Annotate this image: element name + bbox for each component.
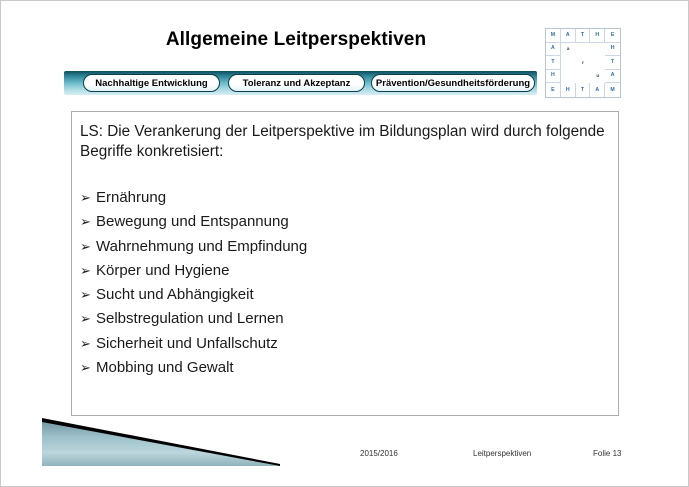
list-item: ➢ Wahrnehmung und Empfindung — [80, 239, 610, 263]
list-item: ➢ Sucht und Abhängigkeit — [80, 287, 610, 311]
logo-cell: H — [561, 83, 576, 97]
logo-cell: M — [605, 83, 620, 97]
list-item: ➢ Selbstregulation und Lernen — [80, 311, 610, 335]
list-item-label: Wahrnehmung und Empfindung — [96, 239, 307, 254]
arrow-bullet-icon: ➢ — [80, 338, 96, 351]
logo-cell: A — [546, 43, 561, 57]
list-item: ➢ Bewegung und Entspannung — [80, 214, 610, 238]
bullet-list: ➢ Ernährung ➢ Bewegung und Entspannung ➢… — [80, 190, 610, 384]
logo-cell-inner — [590, 56, 605, 70]
list-item: ➢ Ernährung — [80, 190, 610, 214]
logo-cell-inner: u — [590, 70, 605, 84]
list-item-label: Ernährung — [96, 190, 166, 205]
footer-date: 2015/2016 — [360, 449, 398, 458]
arrow-bullet-icon: ➢ — [80, 265, 96, 278]
arrow-bullet-icon: ➢ — [80, 362, 96, 375]
slide-canvas: Allgemeine Leitperspektiven M A T H E A … — [0, 0, 689, 487]
list-item: ➢ Körper und Hygiene — [80, 263, 610, 287]
pill-toleranz-und-akzeptanz[interactable]: Toleranz und Akzeptanz — [228, 74, 365, 92]
arrow-bullet-icon: ➢ — [80, 192, 96, 205]
logo-cell: T — [605, 56, 620, 70]
intro-paragraph: LS: Die Verankerung der Leitperspektive … — [80, 122, 612, 162]
logo-cell: A — [590, 83, 605, 97]
logo-cell: T — [576, 29, 591, 43]
logo-cell: T — [546, 56, 561, 70]
logo-cell: A — [561, 29, 576, 43]
logo-cell: E — [605, 29, 620, 43]
page-title: Allgemeine Leitperspektiven — [61, 29, 531, 51]
list-item-label: Sicherheit und Unfallschutz — [96, 336, 278, 351]
pill-praevention-gesundheitsfoerderung[interactable]: Prävention/Gesundheitsförderung — [371, 74, 535, 92]
logo-cell: T — [576, 83, 591, 97]
footer-slide-number: Folie 13 — [593, 449, 621, 458]
logo-cell: M — [546, 29, 561, 43]
list-item-label: Bewegung und Entspannung — [96, 214, 289, 229]
logo-cell-inner — [576, 70, 591, 84]
logo-cell-inner — [590, 43, 605, 57]
logo-cell: E — [546, 83, 561, 97]
content-box: LS: Die Verankerung der Leitperspektive … — [71, 111, 619, 416]
footer-topic: Leitperspektiven — [473, 449, 531, 458]
list-item: ➢ Sicherheit und Unfallschutz — [80, 336, 610, 360]
logo-cell-inner — [561, 56, 576, 70]
pill-nachhaltige-entwicklung[interactable]: Nachhaltige Entwicklung — [83, 74, 220, 92]
list-item-label: Selbstregulation und Lernen — [96, 311, 284, 326]
list-item: ➢ Mobbing und Gewalt — [80, 360, 610, 384]
list-item-label: Mobbing und Gewalt — [96, 360, 234, 375]
arrow-bullet-icon: ➢ — [80, 313, 96, 326]
leitperspektiven-banner: Nachhaltige Entwicklung Toleranz und Akz… — [64, 71, 537, 95]
arrow-bullet-icon: ➢ — [80, 216, 96, 229]
logo-cell: H — [590, 29, 605, 43]
list-item-label: Sucht und Abhängigkeit — [96, 287, 254, 302]
logo-cell-inner: r — [576, 56, 591, 70]
decorative-wedge — [42, 418, 280, 466]
arrow-bullet-icon: ➢ — [80, 241, 96, 254]
logo-cell-inner — [561, 70, 576, 84]
logo-cell-inner — [576, 43, 591, 57]
mathe-grid-logo: M A T H E A a H T r T H u A E H T A M — [545, 28, 621, 98]
logo-cell: H — [605, 43, 620, 57]
logo-cell-inner: a — [561, 43, 576, 57]
logo-cell: A — [605, 70, 620, 84]
arrow-bullet-icon: ➢ — [80, 289, 96, 302]
logo-cell: H — [546, 70, 561, 84]
list-item-label: Körper und Hygiene — [96, 263, 229, 278]
